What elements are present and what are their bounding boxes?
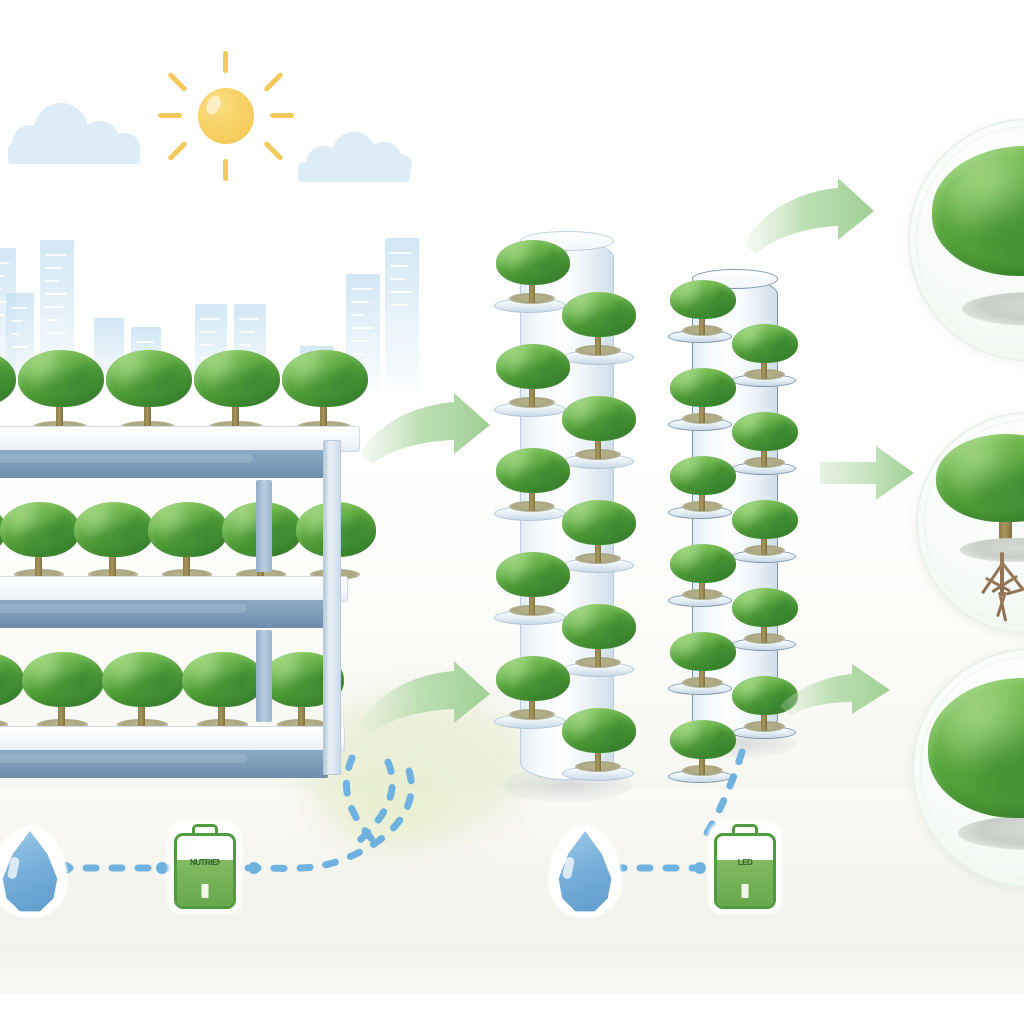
ground-background [0, 790, 1024, 995]
building-window-line [239, 331, 255, 333]
water-drop-icon-2[interactable] [548, 826, 622, 918]
sun-icon [150, 48, 300, 188]
plant-canopy [670, 720, 736, 759]
building-window-line [0, 314, 5, 316]
building-window-line [11, 320, 23, 322]
rack-plant-t2-4 [148, 502, 228, 580]
building-window-line [351, 327, 373, 329]
plant-canopy [74, 502, 154, 557]
bottle-spout [742, 884, 749, 898]
tower-plant-4 [732, 412, 798, 468]
bottle-label-text: LED [730, 859, 760, 866]
sun-disc [198, 88, 254, 144]
sun-ray-se [263, 141, 284, 162]
tower-plant-7 [670, 544, 736, 600]
sun-ray-ne [263, 72, 284, 93]
flow-arrow-rack-to-tower [358, 392, 508, 502]
tower-plant-2 [562, 292, 636, 356]
rack-plant-t1-4 [194, 350, 280, 432]
tower-plant-1 [670, 280, 736, 336]
cloud-base [298, 162, 410, 182]
plant-canopy [562, 604, 636, 649]
building-window-line [45, 332, 67, 334]
plant-canopy [562, 396, 636, 441]
building-window-line [390, 278, 404, 280]
tower-plant-1 [496, 240, 570, 304]
plant-canopy [936, 434, 1024, 522]
flow-arrow-tower-to-result-top [742, 174, 892, 284]
building-window-line [0, 262, 9, 264]
plant-canopy [562, 500, 636, 545]
tower-plant-7 [496, 552, 570, 616]
building-window-line [45, 254, 67, 256]
bottle-spout [202, 884, 209, 898]
diagram-canvas: NUTRIENT LED [0, 0, 1024, 1024]
plant-canopy [928, 678, 1024, 818]
building-window-line [351, 314, 365, 316]
rack-leg-right [323, 440, 341, 775]
vertical-grow-tower-back[interactable] [692, 278, 778, 743]
building-window-line [351, 301, 369, 303]
rack-shelf-surface-1 [0, 426, 360, 452]
tower-plant-4 [562, 396, 636, 460]
plant-canopy [932, 146, 1024, 276]
bottle-body [174, 833, 236, 909]
rack-leg-inner-mid-1 [256, 480, 272, 572]
rack-shelf-front-2 [0, 600, 328, 628]
cloud-icon-left [4, 103, 144, 165]
tower-plant-8 [732, 588, 798, 644]
cloud-icon-right [294, 132, 414, 187]
flow-arrow-tower-to-result-middle [818, 440, 918, 506]
building-window-line [45, 306, 63, 308]
plant-canopy [732, 588, 798, 627]
plant-canopy [496, 344, 570, 389]
bottom-white-strip [0, 994, 1024, 1024]
rack-plant-t2-3 [74, 502, 154, 580]
plant-canopy [496, 552, 570, 597]
plant-canopy [670, 544, 736, 583]
plant-canopy [182, 652, 264, 707]
building-window-line [0, 288, 1, 290]
result-plant-with-roots [936, 434, 1024, 544]
tower-plant-10 [562, 708, 636, 772]
rack-plant-t3-1 [0, 652, 24, 730]
sun-ray-n [223, 51, 228, 73]
bottle-body [714, 833, 776, 909]
tower-plant-2 [732, 324, 798, 380]
plant-canopy [0, 502, 80, 557]
building-window-line [200, 318, 220, 320]
building-window-line [0, 275, 5, 277]
building-window-line [390, 304, 408, 306]
sun-ray-e [270, 113, 294, 118]
rack-plant-t3-4 [182, 652, 264, 730]
rack-plant-t1-2 [18, 350, 104, 432]
plant-canopy [0, 652, 24, 707]
rack-plant-t2-2 [0, 502, 80, 580]
tower-plant-11 [670, 720, 736, 776]
building-window-line [11, 307, 27, 309]
flow-arrow-rack-to-result-bottom [358, 655, 508, 765]
nutrient-bottle-icon-2[interactable]: LED [708, 822, 782, 914]
result-plant-lettuce [928, 678, 1024, 838]
rack-plant-t3-2 [22, 652, 104, 730]
tower-plant-9 [670, 632, 736, 688]
sun-ray-w [158, 113, 182, 118]
tower-plant-6 [732, 500, 798, 556]
plant-canopy [670, 632, 736, 671]
cloud-base [8, 143, 140, 164]
plant-canopy [670, 280, 736, 319]
plant-canopy [732, 500, 798, 539]
root-system [970, 552, 1024, 634]
sun-ray-s [223, 159, 228, 181]
result-plant-leafy [932, 146, 1024, 316]
plant-canopy [670, 368, 736, 407]
building-window-line [351, 288, 373, 290]
rack-shelf-front-1 [0, 450, 335, 478]
building-window-line [390, 291, 412, 293]
rack-shelf-surface-2 [0, 576, 348, 602]
rack-shelf-surface-3 [0, 726, 345, 752]
tower-plant-6 [562, 500, 636, 564]
building-window-line [200, 331, 216, 333]
plant-canopy [148, 502, 228, 557]
building-window-line [45, 319, 59, 321]
sun-ray-sw [167, 141, 188, 162]
building-window-line [45, 267, 63, 269]
vertical-grow-tower-front[interactable] [520, 240, 614, 785]
plant-canopy [670, 456, 736, 495]
building-window-line [239, 318, 259, 320]
tower-plant-8 [562, 604, 636, 668]
plant-canopy [282, 350, 368, 407]
sun-ray-nw [167, 72, 188, 93]
tower-plant-5 [670, 456, 736, 512]
rack-leg-inner-mid-2 [256, 630, 272, 722]
nutrient-bottle-icon-1[interactable]: NUTRIENT [168, 822, 242, 914]
plant-canopy [496, 240, 570, 285]
rack-plant-t1-1 [0, 350, 16, 432]
skyline-building [385, 238, 419, 390]
building-window-line [45, 280, 59, 282]
plant-canopy [562, 708, 636, 753]
plant-canopy [194, 350, 280, 407]
water-drop-icon-1[interactable] [0, 826, 68, 918]
plant-canopy [732, 412, 798, 451]
building-window-line [11, 333, 19, 335]
building-window-line [390, 265, 408, 267]
plant-canopy [18, 350, 104, 407]
bottle-label-text: NUTRIENT [190, 859, 220, 866]
plant-canopy [0, 350, 16, 407]
flow-arrow-tower-to-result-bottom [778, 650, 908, 740]
rack-plant-t1-3 [106, 350, 192, 432]
building-window-line [45, 293, 67, 295]
plant-canopy [22, 652, 104, 707]
plant-canopy [106, 350, 192, 407]
plant-canopy [732, 324, 798, 363]
plant-canopy [562, 292, 636, 337]
rack-plant-t1-5 [282, 350, 368, 432]
rack-plant-t3-3 [102, 652, 184, 730]
horizontal-grow-rack[interactable] [0, 340, 360, 780]
tower-plant-3 [670, 368, 736, 424]
building-window-line [390, 252, 412, 254]
plant-canopy [102, 652, 184, 707]
rack-shelf-front-3 [0, 750, 328, 778]
